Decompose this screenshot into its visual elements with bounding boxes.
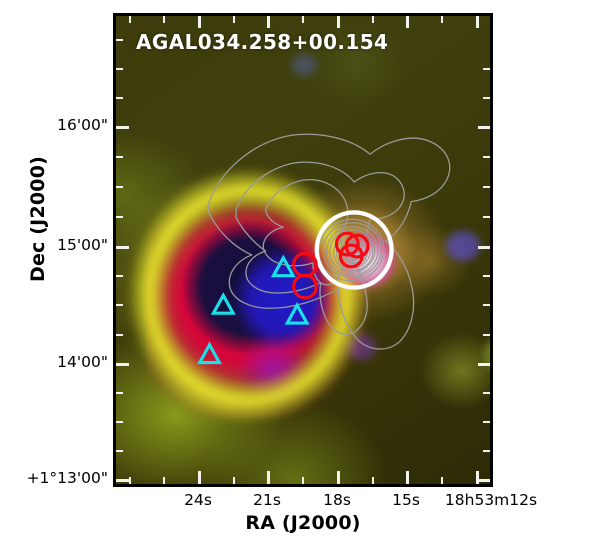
axis-tick-minor bbox=[116, 450, 123, 452]
y-tick-label: 14'00" bbox=[0, 353, 108, 371]
axis-tick-right-minor bbox=[483, 97, 490, 99]
axis-tick-top bbox=[267, 16, 270, 28]
y-tick-label: 16'00" bbox=[0, 116, 108, 134]
axis-tick-right-minor bbox=[483, 216, 490, 218]
axis-tick-top bbox=[476, 16, 479, 28]
axis-tick-right-minor bbox=[483, 421, 490, 423]
axis-tick-minor bbox=[116, 275, 123, 277]
x-tick-label: 18h53m12s bbox=[445, 491, 537, 509]
axis-tick-right-minor bbox=[483, 334, 490, 336]
axis-tick-right-minor bbox=[483, 450, 490, 452]
axis-tick-right bbox=[478, 126, 490, 129]
x-tick-label: 15s bbox=[392, 491, 420, 509]
axis-tick-minor bbox=[233, 477, 235, 484]
axis-tick-minor bbox=[116, 392, 123, 394]
axis-tick-minor bbox=[116, 39, 123, 41]
axis-tick bbox=[476, 471, 479, 484]
axis-tick-minor bbox=[116, 97, 123, 99]
axis-tick-right-minor bbox=[483, 186, 490, 188]
x-tick-label: 24s bbox=[184, 491, 212, 509]
axis-tick-minor bbox=[441, 477, 443, 484]
axis-tick-minor bbox=[116, 68, 123, 70]
x-tick-label: 18s bbox=[323, 491, 351, 509]
axis-tick-minor bbox=[116, 156, 123, 158]
axis-tick-top bbox=[198, 16, 201, 28]
overlay-layer bbox=[116, 16, 490, 484]
axis-tick-minor bbox=[372, 477, 374, 484]
axis-tick bbox=[116, 363, 129, 366]
x-tick-label: 21s bbox=[253, 491, 281, 509]
axis-tick-top bbox=[406, 16, 409, 28]
panel-title: AGAL034.258+00.154 bbox=[136, 30, 388, 54]
y-tick-label: 15'00" bbox=[0, 236, 108, 254]
axis-tick-minor bbox=[129, 477, 131, 484]
axis-tick-top-minor bbox=[441, 16, 443, 23]
axis-tick-minor bbox=[116, 421, 123, 423]
axis-tick-right bbox=[478, 246, 490, 249]
cyan-triangles bbox=[200, 258, 307, 363]
axis-tick-minor bbox=[302, 477, 304, 484]
axis-tick-right-minor bbox=[483, 304, 490, 306]
y-tick-label: +1°13'00" bbox=[0, 469, 108, 487]
axis-tick bbox=[267, 471, 270, 484]
x-axis-label: RA (J2000) bbox=[113, 512, 493, 534]
axis-tick-top-minor bbox=[163, 16, 165, 23]
axis-tick-right bbox=[478, 479, 490, 482]
axis-tick-top-minor bbox=[372, 16, 374, 23]
axis-tick-right-minor bbox=[483, 392, 490, 394]
axis-tick bbox=[337, 471, 340, 484]
sky-image-panel[interactable]: AGAL034.258+00.154 bbox=[113, 13, 493, 487]
axis-tick bbox=[116, 479, 129, 482]
axis-tick-right-minor bbox=[483, 68, 490, 70]
axis-tick bbox=[406, 471, 409, 484]
axis-tick-top-minor bbox=[233, 16, 235, 23]
axis-tick-top-minor bbox=[302, 16, 304, 23]
axis-tick-top bbox=[337, 16, 340, 28]
axis-tick bbox=[116, 246, 129, 249]
axis-tick-minor bbox=[116, 334, 123, 336]
axis-tick-minor bbox=[116, 186, 123, 188]
axis-tick-minor bbox=[116, 304, 123, 306]
axis-tick-right-minor bbox=[483, 156, 490, 158]
axis-tick-top-minor bbox=[129, 16, 131, 23]
axis-tick-right-minor bbox=[483, 275, 490, 277]
figure-root: Dec (J2000) RA (J2000) 16'00" 15'00" 14'… bbox=[0, 0, 607, 548]
axis-tick-right bbox=[478, 363, 490, 366]
axis-tick-minor bbox=[163, 477, 165, 484]
axis-tick-minor bbox=[116, 216, 123, 218]
axis-tick bbox=[116, 126, 129, 129]
axis-tick bbox=[198, 471, 201, 484]
